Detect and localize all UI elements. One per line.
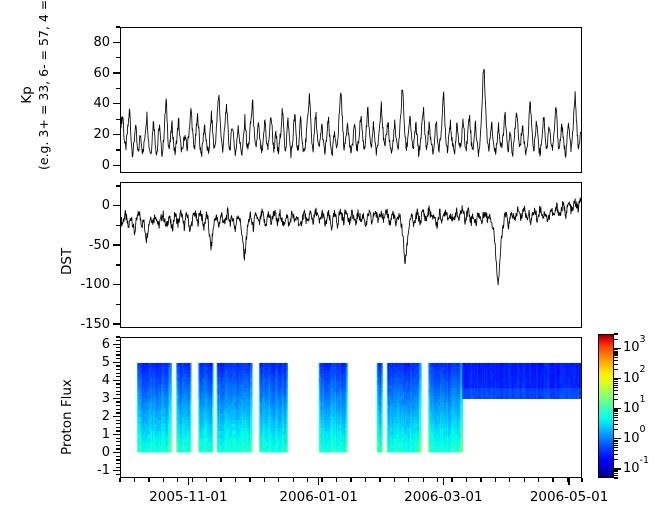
colorbar-major-tick: [614, 378, 621, 379]
x-minor-tick: [264, 478, 265, 482]
y-minor-tick: [116, 383, 120, 384]
colorbar-minor-tick: [614, 473, 618, 474]
colorbar-minor-tick: [614, 413, 618, 414]
colorbar-minor-tick: [614, 445, 618, 446]
y-tick-label: 80: [58, 36, 110, 49]
colorbar-tick-label: 10-1: [623, 462, 649, 475]
x-minor-tick: [206, 478, 207, 482]
x-minor-tick: [350, 478, 351, 482]
y-major-tick: [113, 344, 120, 345]
y-minor-tick: [116, 340, 120, 341]
colorbar-minor-tick: [614, 357, 618, 358]
colorbar-tick-label: 102: [623, 372, 646, 385]
colorbar-minor-tick: [614, 352, 618, 353]
x-minor-tick: [524, 478, 525, 482]
x-minor-tick: [321, 478, 322, 482]
colorbar-tick-label: 103: [623, 341, 646, 354]
kp-plot-panel: [120, 27, 582, 173]
colorbar-major-tick: [614, 438, 621, 439]
colorbar-minor-tick: [614, 364, 618, 365]
y-tick-label: -100: [58, 278, 110, 291]
y-minor-tick: [116, 264, 120, 265]
colorbar-minor-tick: [614, 379, 618, 380]
colorbar-minor-tick: [614, 333, 618, 334]
x-minor-tick: [307, 478, 308, 482]
y-minor-tick: [116, 336, 120, 337]
y-major-tick: [113, 323, 120, 324]
y-minor-tick: [116, 467, 120, 468]
x-minor-tick: [480, 478, 481, 482]
colorbar-minor-tick: [614, 447, 618, 448]
x-minor-tick: [552, 478, 553, 482]
y-major-tick: [113, 72, 120, 73]
y-major-tick: [113, 452, 120, 453]
x-minor-tick: [163, 478, 164, 482]
colorbar-minor-tick: [614, 441, 618, 442]
y-major-tick: [113, 398, 120, 399]
proton-flux-axis-title-text: Proton Flux: [59, 379, 75, 455]
colorbar: [598, 334, 614, 478]
colorbar-major-tick: [614, 408, 621, 409]
colorbar-minor-tick: [614, 440, 618, 441]
y-minor-tick: [116, 438, 120, 439]
y-major-tick: [113, 284, 120, 285]
x-minor-tick: [249, 478, 250, 482]
colorbar-major-tick: [614, 348, 621, 349]
colorbar-minor-tick: [614, 424, 618, 425]
y-minor-tick: [116, 459, 120, 460]
x-minor-tick: [278, 478, 279, 482]
y-minor-tick: [116, 405, 120, 406]
x-minor-tick: [437, 478, 438, 482]
y-major-tick: [113, 470, 120, 471]
x-major-tick: [318, 478, 319, 485]
colorbar-minor-tick: [614, 354, 618, 355]
y-minor-tick: [116, 149, 120, 150]
x-minor-tick: [538, 478, 539, 482]
y-tick-label: 0: [58, 159, 110, 172]
y-minor-tick: [116, 88, 120, 89]
y-minor-tick: [116, 387, 120, 388]
x-minor-tick: [509, 478, 510, 482]
dst-axis-title-text: DST: [59, 248, 75, 275]
colorbar-minor-tick: [614, 470, 618, 471]
colorbar-minor-tick: [614, 417, 618, 418]
x-major-tick: [443, 478, 444, 485]
proton-flux-spectrogram: [121, 338, 581, 477]
y-minor-tick: [116, 409, 120, 410]
colorbar-minor-tick: [614, 477, 618, 478]
y-minor-tick: [116, 351, 120, 352]
x-minor-tick: [220, 478, 221, 482]
kp-series-canvas: [121, 28, 581, 172]
y-minor-tick: [116, 304, 120, 305]
colorbar-minor-tick: [614, 383, 618, 384]
colorbar-minor-tick: [614, 411, 618, 412]
colorbar-minor-tick: [614, 459, 618, 460]
x-minor-tick: [235, 478, 236, 482]
y-tick-label: 60: [58, 67, 110, 80]
x-minor-tick: [408, 478, 409, 482]
y-minor-tick: [116, 412, 120, 413]
y-minor-tick: [116, 420, 120, 421]
x-minor-tick: [379, 478, 380, 482]
x-minor-tick: [177, 478, 178, 482]
y-minor-tick: [116, 474, 120, 475]
colorbar-minor-tick: [614, 387, 618, 388]
x-tick-label: 2005-11-01: [138, 490, 238, 504]
y-major-tick: [113, 42, 120, 43]
y-tick-label: -1: [58, 464, 110, 477]
y-minor-tick: [116, 430, 120, 431]
x-minor-tick: [336, 478, 337, 482]
y-minor-tick: [116, 394, 120, 395]
colorbar-minor-tick: [614, 399, 618, 400]
colorbar-minor-tick: [614, 369, 618, 370]
colorbar-minor-tick: [614, 381, 618, 382]
proton-flux-plot-panel: [120, 337, 582, 478]
colorbar-minor-tick: [614, 360, 618, 361]
x-minor-tick: [394, 478, 395, 482]
colorbar-tick-label: 101: [623, 402, 646, 415]
kp-axis-title-line1: Kp: [20, 20, 36, 170]
x-minor-tick: [466, 478, 467, 482]
y-minor-tick: [116, 427, 120, 428]
colorbar-minor-tick: [614, 385, 618, 386]
x-minor-tick: [495, 478, 496, 482]
y-minor-tick: [116, 185, 120, 186]
x-minor-tick: [581, 478, 582, 482]
y-minor-tick: [116, 347, 120, 348]
y-minor-tick: [116, 119, 120, 120]
y-tick-label: 5: [58, 356, 110, 369]
colorbar-minor-tick: [614, 390, 618, 391]
colorbar-minor-tick: [614, 454, 618, 455]
colorbar-minor-tick: [614, 450, 618, 451]
x-minor-tick: [119, 478, 120, 482]
x-minor-tick: [293, 478, 294, 482]
y-tick-label: 6: [58, 338, 110, 351]
y-minor-tick: [116, 373, 120, 374]
x-minor-tick: [365, 478, 366, 482]
x-major-tick: [188, 478, 189, 485]
colorbar-minor-tick: [614, 351, 618, 352]
colorbar-gradient: [599, 335, 613, 477]
y-major-tick: [113, 103, 120, 104]
y-minor-tick: [116, 225, 120, 226]
dst-plot-panel: [120, 182, 582, 328]
colorbar-minor-tick: [614, 415, 618, 416]
y-major-tick: [113, 244, 120, 245]
x-minor-tick: [423, 478, 424, 482]
y-major-tick: [113, 362, 120, 363]
y-tick-label: 40: [58, 97, 110, 110]
y-tick-label: 20: [58, 128, 110, 141]
y-minor-tick: [116, 369, 120, 370]
y-tick-label: -150: [58, 318, 110, 331]
colorbar-minor-tick: [614, 475, 618, 476]
colorbar-minor-tick: [614, 409, 618, 410]
dst-series-canvas: [121, 183, 581, 327]
y-minor-tick: [116, 26, 120, 27]
y-minor-tick: [116, 376, 120, 377]
y-minor-tick: [116, 354, 120, 355]
kp-axis-title-line2: (e.g. 3+ = 33, 6- = 57, 4 = 40, etc.): [36, 20, 52, 170]
y-minor-tick: [116, 463, 120, 464]
y-major-tick: [113, 434, 120, 435]
x-tick-label: 2006-05-01: [519, 490, 619, 504]
y-minor-tick: [116, 401, 120, 402]
colorbar-minor-tick: [614, 339, 618, 340]
colorbar-major-tick: [614, 468, 621, 469]
y-major-tick: [113, 134, 120, 135]
colorbar-minor-tick: [614, 443, 618, 444]
y-minor-tick: [116, 445, 120, 446]
x-tick-label: 2006-03-01: [393, 490, 493, 504]
y-major-tick: [113, 416, 120, 417]
y-minor-tick: [116, 365, 120, 366]
y-minor-tick: [116, 456, 120, 457]
colorbar-minor-tick: [614, 471, 618, 472]
y-minor-tick: [116, 57, 120, 58]
y-tick-label: 0: [58, 199, 110, 212]
x-major-tick: [568, 478, 569, 485]
colorbar-minor-tick: [614, 429, 618, 430]
colorbar-tick-label: 100: [623, 432, 646, 445]
y-minor-tick: [116, 441, 120, 442]
y-major-tick: [113, 165, 120, 166]
y-major-tick: [113, 205, 120, 206]
x-minor-tick: [134, 478, 135, 482]
y-minor-tick: [116, 423, 120, 424]
y-minor-tick: [116, 391, 120, 392]
x-tick-label: 2006-01-01: [269, 490, 369, 504]
x-minor-tick: [451, 478, 452, 482]
dst-axis-title: DST: [60, 248, 75, 275]
y-major-tick: [113, 380, 120, 381]
proton-flux-axis-title: Proton Flux: [60, 379, 75, 455]
x-minor-tick: [148, 478, 149, 482]
colorbar-minor-tick: [614, 394, 618, 395]
y-minor-tick: [116, 358, 120, 359]
y-minor-tick: [116, 448, 120, 449]
colorbar-minor-tick: [614, 420, 618, 421]
kp-axis-title: Kp (e.g. 3+ = 33, 6- = 57, 4 = 40, etc.): [20, 20, 51, 170]
colorbar-minor-tick: [614, 349, 618, 350]
space-weather-figure: 020406080 Kp (e.g. 3+ = 33, 6- = 57, 4 =…: [0, 0, 665, 523]
x-minor-tick: [192, 478, 193, 482]
